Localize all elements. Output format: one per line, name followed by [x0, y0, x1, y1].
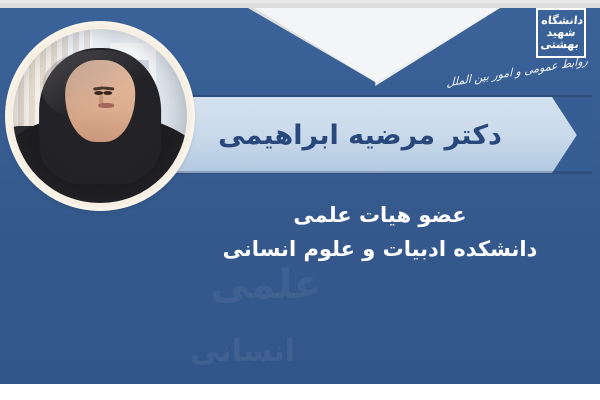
seal-calligraphy: دانشگاه شهید بهشتی — [539, 13, 583, 53]
seal-line-3: بهشتی — [540, 39, 579, 51]
portrait-photo — [13, 29, 187, 203]
subtitle-block: عضو هیات علمی دانشکده ادبیات و علوم انسا… — [180, 198, 580, 266]
university-logo: دانشگاه شهید بهشتی روابط عمومی و امور بی… — [468, 6, 592, 90]
page-title: دکتر مرضیه ابراهیمی — [180, 99, 540, 171]
subtitle-line-2: دانشکده ادبیات و علوم انسانی — [180, 232, 580, 266]
top-hairline — [0, 0, 600, 3]
university-seal-icon: دانشگاه شهید بهشتی — [536, 8, 586, 58]
poster-canvas: علمی انسانی دکتر مرضیه ابراهیمی عضو هیات… — [0, 0, 600, 400]
avatar — [8, 24, 192, 208]
portrait-vignette — [13, 29, 187, 203]
subtitle-line-1: عضو هیات علمی — [180, 198, 580, 232]
